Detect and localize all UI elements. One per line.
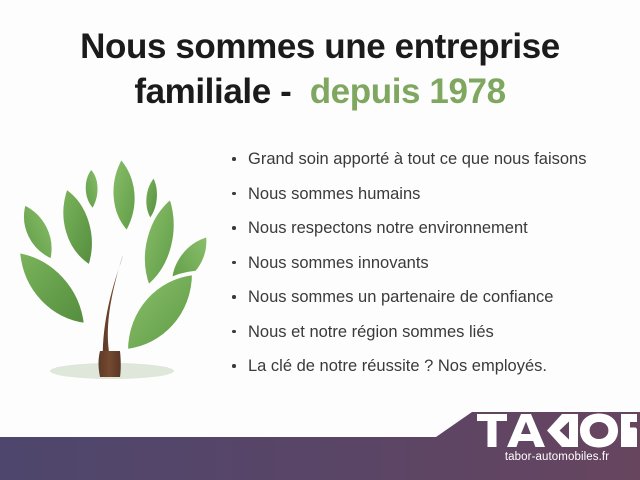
bullet-dot-icon — [232, 157, 236, 161]
leaf-top-small-left — [84, 167, 100, 211]
title-accent-year: depuis 1978 — [310, 72, 506, 111]
bullet-dot-icon — [232, 261, 236, 265]
title-line-2-text: familiale - — [134, 72, 300, 111]
bullet-dot-icon — [232, 295, 236, 299]
title-line-1: Nous sommes une entreprise — [0, 26, 640, 67]
list-item-label: Nous respectons notre environnement — [248, 219, 528, 237]
page-title: Nous sommes une entreprise familiale - d… — [0, 26, 640, 113]
list-item: La clé de notre réussite ? Nos employés. — [230, 357, 630, 376]
bullet-dot-icon — [232, 192, 236, 196]
slide-canvas: Nous sommes une entreprise familiale - d… — [0, 0, 640, 480]
list-item-label: Nous sommes un partenaire de confiance — [248, 288, 553, 306]
bullet-dot-icon — [232, 364, 236, 368]
footer-bar-shape — [0, 412, 640, 480]
list-item-label: Nous sommes innovants — [248, 254, 429, 272]
footer-bar — [0, 406, 640, 480]
benefits-list: Grand soin apporté à tout ce que nous fa… — [230, 150, 630, 376]
title-line-2: familiale - depuis 1978 — [0, 71, 640, 112]
list-item: Grand soin apporté à tout ce que nous fa… — [230, 150, 630, 169]
list-item: Nous sommes humains — [230, 185, 630, 204]
list-item: Nous sommes un partenaire de confiance — [230, 288, 630, 307]
list-item-label: Nous et notre région sommes liés — [248, 323, 494, 341]
list-item: Nous et notre région sommes liés — [230, 323, 630, 342]
bullet-dot-icon — [232, 226, 236, 230]
leaf-lower-right — [126, 273, 194, 351]
list-item-label: La clé de notre réussite ? Nos employés. — [248, 357, 547, 375]
bullet-dot-icon — [232, 330, 236, 334]
tree-trunk-base — [99, 351, 121, 377]
list-item-label: Grand soin apporté à tout ce que nous fa… — [248, 150, 586, 168]
list-item: Nous respectons notre environnement — [230, 219, 630, 238]
list-item: Nous sommes innovants — [230, 254, 630, 273]
list-item-label: Nous sommes humains — [248, 185, 420, 203]
leaf-top-center — [111, 157, 136, 233]
tree-illustration — [8, 145, 218, 385]
